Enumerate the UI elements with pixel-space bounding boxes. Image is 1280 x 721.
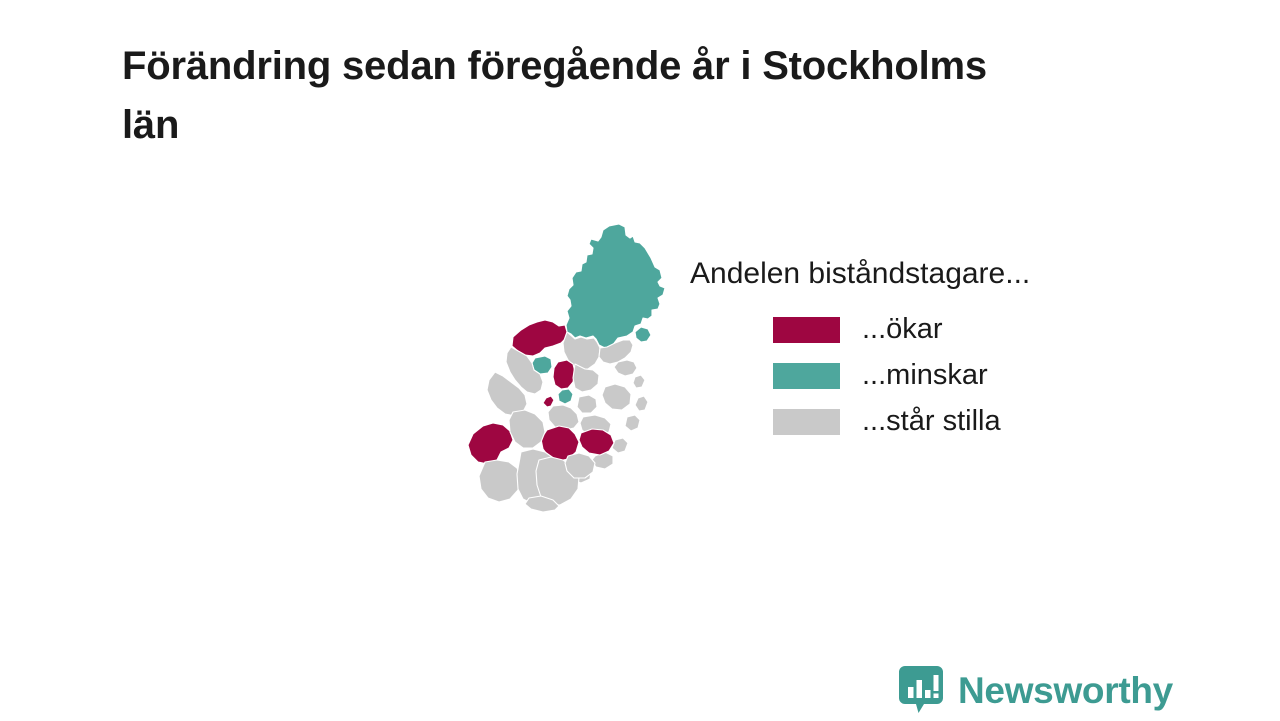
newsworthy-wordmark: Newsworthy — [958, 672, 1173, 709]
map-area-archipelago-1 — [633, 375, 645, 388]
map-area-solna — [558, 389, 573, 404]
legend-heading: Andelen biståndstagare... — [690, 255, 1150, 293]
map-area-sundbyberg — [543, 396, 554, 407]
map-area-vaxholm — [614, 360, 637, 376]
legend-label-increase: ...ökar — [862, 315, 943, 344]
map-area-haninge — [579, 429, 614, 455]
map-svg — [455, 212, 695, 517]
map-area-sodertalje — [468, 423, 513, 464]
map-area-lidingo — [577, 395, 597, 413]
map-area-norrtalje-peninsula — [635, 327, 651, 342]
map-area-stockholm — [548, 405, 579, 430]
legend-swatch-decrease — [773, 363, 840, 389]
map-area-norrtalje — [566, 224, 665, 348]
legend-item-decrease: ...minskar — [690, 353, 1150, 399]
legend-item-unchanged: ...står stilla — [690, 399, 1150, 445]
legend-swatch-unchanged — [773, 409, 840, 435]
map-area-archipelago-4 — [612, 438, 628, 453]
map-area-tyreso — [565, 453, 595, 478]
map-area-nykvarn — [479, 460, 521, 502]
legend-label-decrease: ...minskar — [862, 361, 988, 390]
page-title: Förändring sedan föregående år i Stockho… — [122, 37, 1002, 155]
newsworthy-bubble-chart-icon — [898, 664, 944, 716]
newsworthy-logo: Newsworthy — [898, 664, 1173, 716]
map-area-salem — [509, 410, 545, 448]
map-area-sigtuna — [512, 320, 567, 356]
map-legend: Andelen biståndstagare... ...ökar ...min… — [690, 255, 1150, 445]
map-area-archipelago-3 — [625, 415, 640, 431]
legend-item-increase: ...ökar — [690, 307, 1150, 353]
legend-swatch-increase — [773, 317, 840, 343]
map-area-archipelago-2 — [635, 396, 648, 411]
map-area-varmdo — [602, 384, 631, 410]
choropleth-map — [455, 212, 695, 517]
map-area-sollentuna — [553, 360, 575, 389]
legend-label-unchanged: ...står stilla — [862, 407, 1001, 436]
